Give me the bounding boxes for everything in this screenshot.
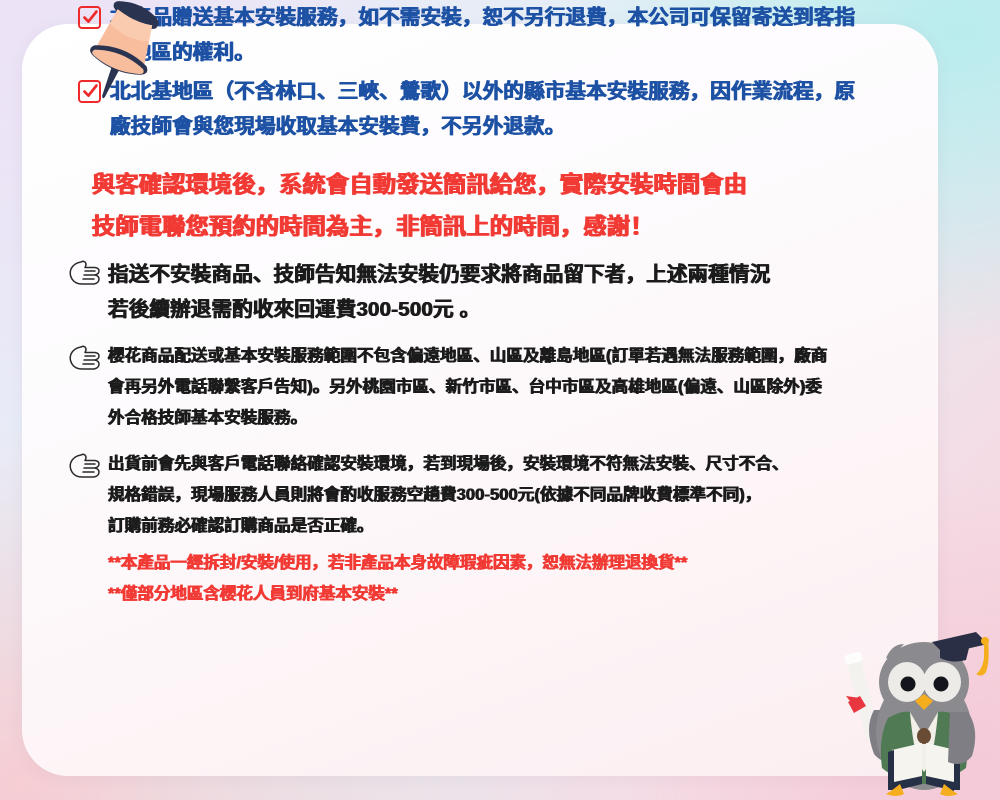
note-text: 指送不安裝商品、技師告知無法安裝仍要求將商品留下者，上述兩種情況若後續辦退需酌收… — [108, 257, 770, 327]
pointing-hand-icon — [68, 258, 102, 293]
note-service-area: 櫻花商品配送或基本安裝服務範圍不包含偏遠地區、山區及離島地區(訂單若遇無法服務範… — [0, 341, 1000, 434]
pushpin-icon — [60, 0, 184, 108]
footnotes: **本產品一經拆封/安裝/使用，若非產品本身故障瑕疵因素，恕無法辦理退換貨** … — [0, 548, 1000, 610]
pointing-hand-icon — [68, 451, 102, 486]
footnote-partial-area: **僅部分地區含櫻花人員到府基本安裝** — [108, 579, 956, 610]
note-text: 出貨前會先與客戶電話聯絡確認安裝環境，若到現場後，安裝環境不符無法安裝、尺寸不合… — [108, 449, 789, 542]
checklist-item-text: 北北基地區（不含林口、三峽、鶯歌）以外的縣市基本安裝服務，因作業流程，原廠技師會… — [110, 74, 855, 144]
note-text: 櫻花商品配送或基本安裝服務範圍不包含偏遠地區、山區及離島地區(訂單若遇無法服務範… — [108, 341, 827, 434]
checklist-item-region-fee: 北北基地區（不含林口、三峽、鶯歌）以外的縣市基本安裝服務，因作業流程，原廠技師會… — [78, 74, 942, 144]
graduate-owl-icon — [844, 610, 996, 800]
pointing-hand-icon — [68, 343, 102, 378]
note-return-shipping: 指送不安裝商品、技師告知無法安裝仍要求將商品留下者，上述兩種情況若後續辦退需酌收… — [0, 257, 1000, 327]
emphasis-notice: 與客確認環境後，系統會自動發送簡訊給您，實際安裝時間會由技師電聯您預約的時間為主… — [0, 163, 1000, 247]
checklist-item-install-service: 本產品贈送基本安裝服務，如不需安裝，恕不另行退費，本公司可保留寄送到客指定地區的… — [78, 0, 942, 70]
footnote-no-return: **本產品一經拆封/安裝/使用，若非產品本身故障瑕疵因素，恕無法辦理退換貨** — [108, 548, 956, 579]
note-pre-delivery-call: 出貨前會先與客戶電話聯絡確認安裝環境，若到現場後，安裝環境不符無法安裝、尺寸不合… — [0, 449, 1000, 542]
checklist-item-text: 本產品贈送基本安裝服務，如不需安裝，恕不另行退費，本公司可保留寄送到客指定地區的… — [110, 0, 855, 70]
